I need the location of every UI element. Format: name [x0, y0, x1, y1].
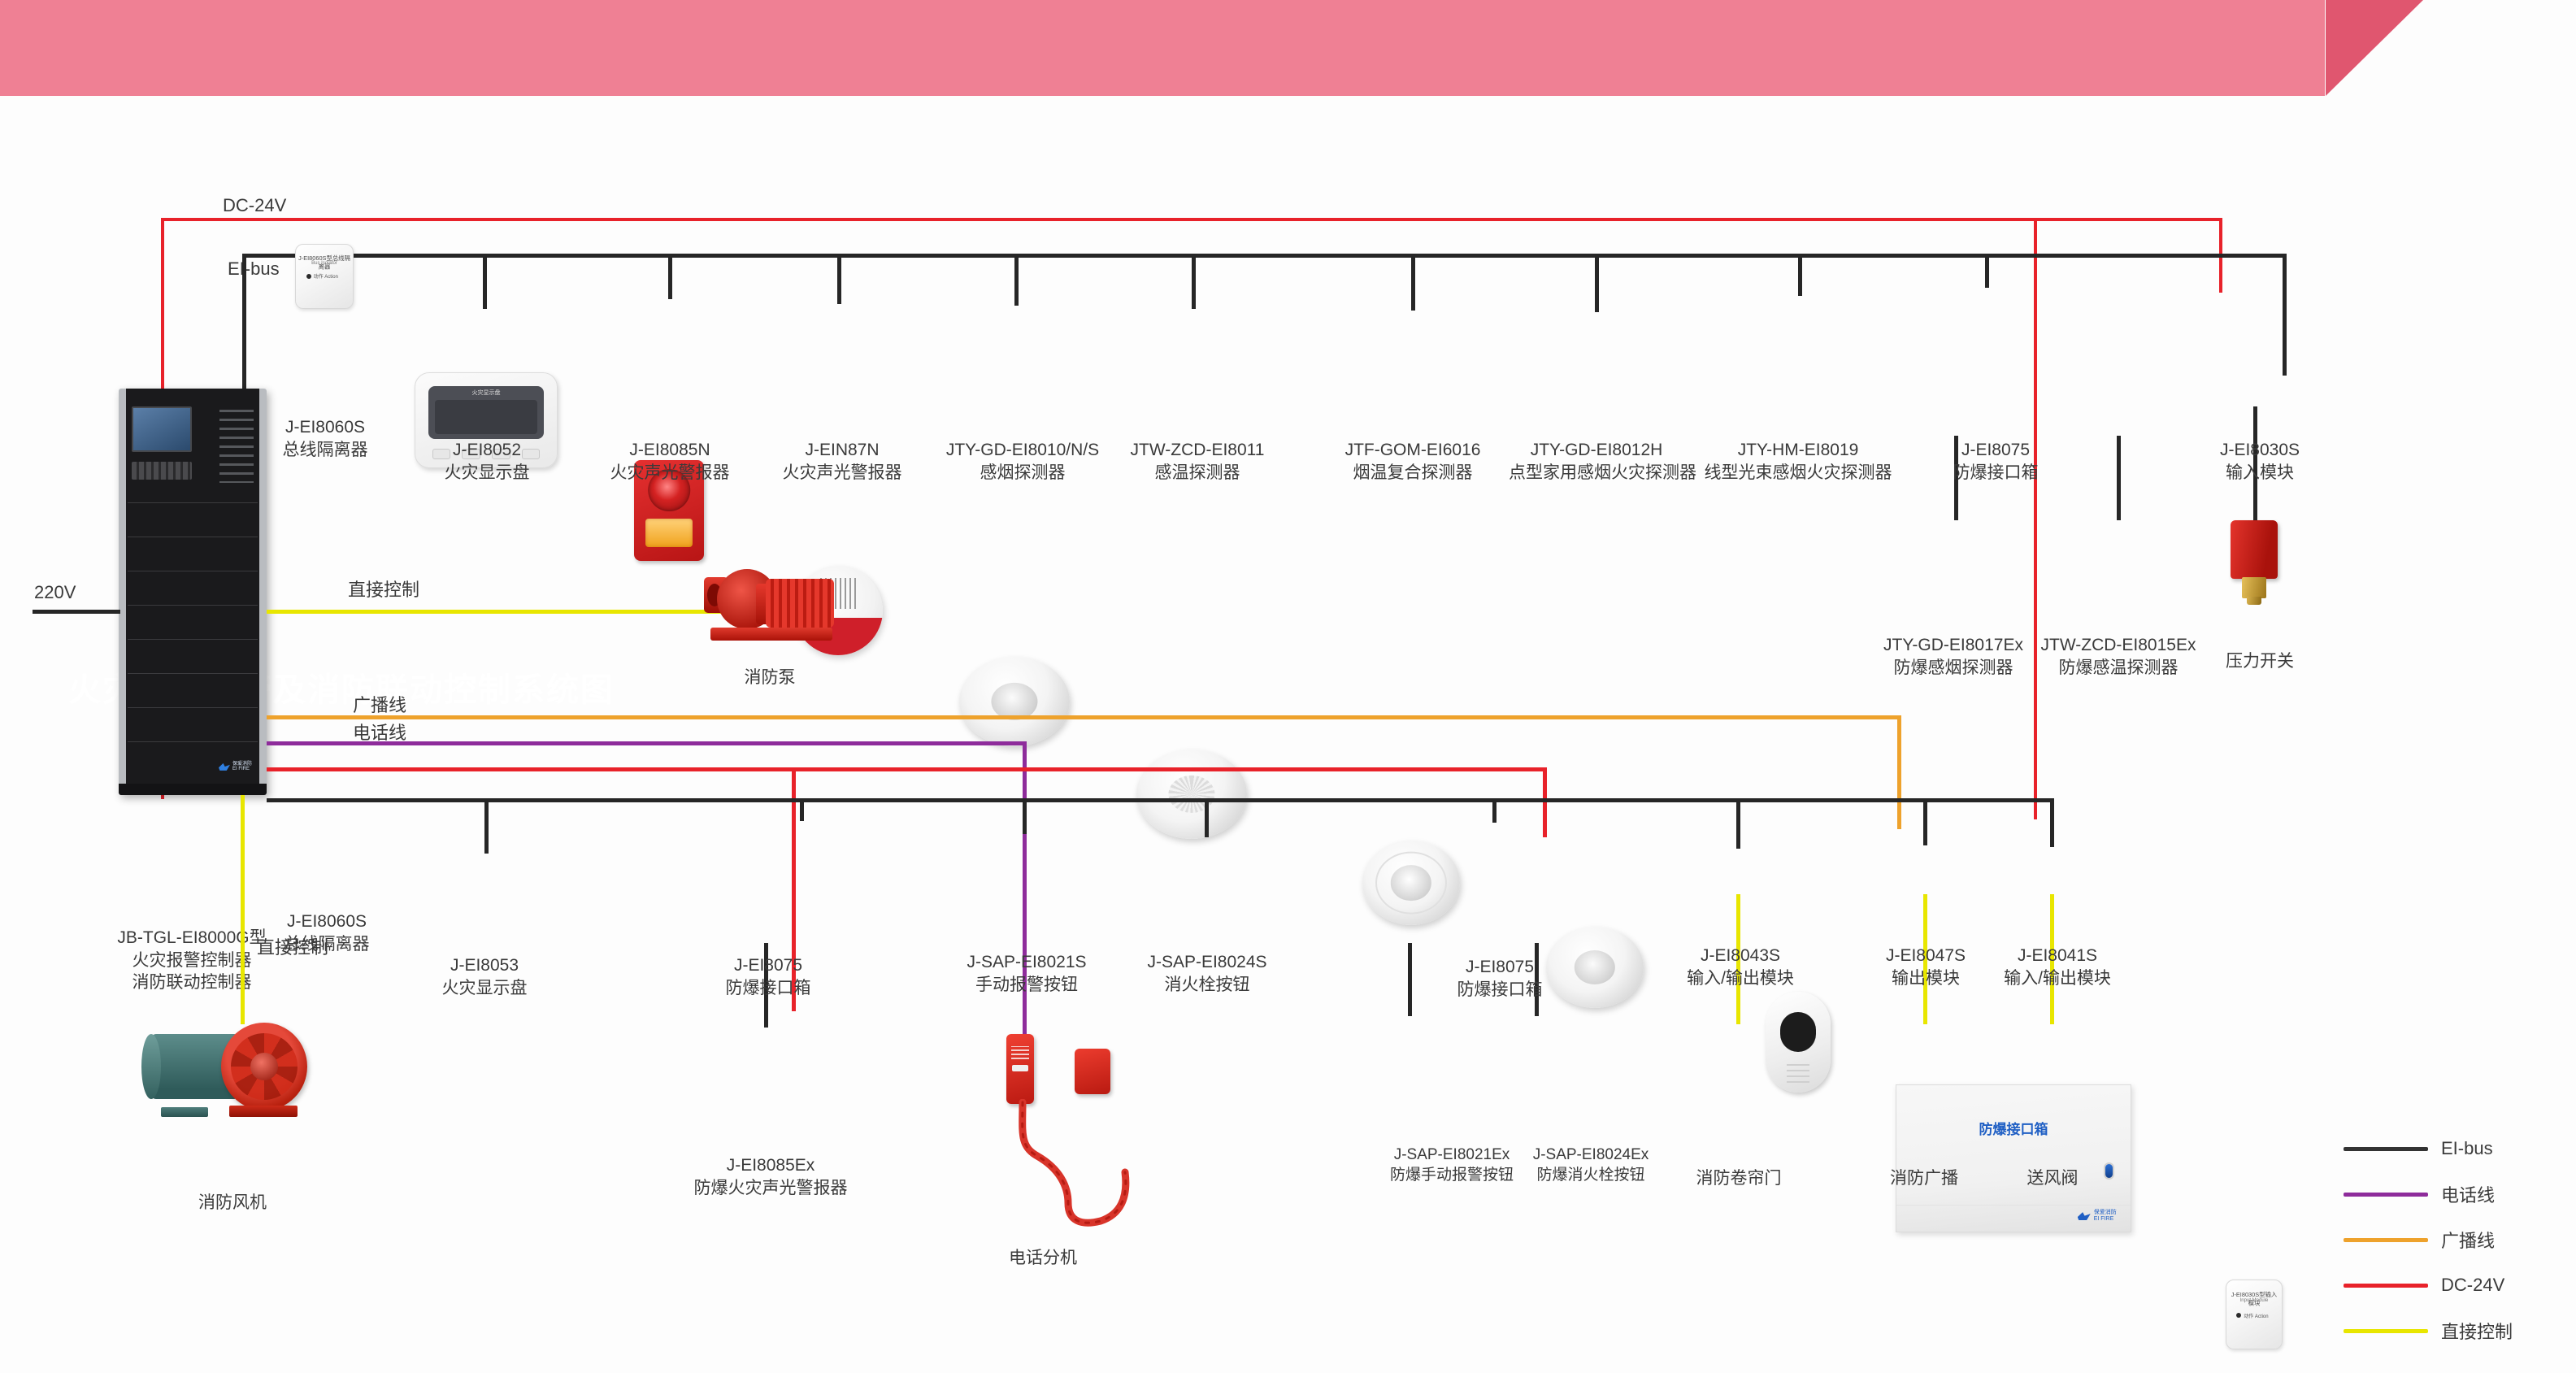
legend-swatch-broadcast — [2344, 1238, 2428, 1242]
pump-base — [710, 628, 832, 641]
header-band — [0, 0, 2325, 96]
cabinet-keypad[interactable] — [132, 462, 192, 480]
pressure-switch-body — [2231, 520, 2278, 579]
label-smoke-fan: 消防风机 — [159, 1192, 306, 1214]
label-8015ex: JTW-ZCD-EI8015Ex防爆感温探测器 — [2029, 634, 2208, 679]
device-fire-pump[interactable] — [704, 546, 836, 641]
handset-earpiece-icon — [1011, 1046, 1029, 1058]
device-beam-detector-8019[interactable] — [1766, 992, 1831, 1093]
fan-rear-foot — [161, 1107, 208, 1117]
label-ein87n: J-EIN87N火灾声光警报器 — [771, 439, 914, 484]
expbox-brand-logo: 保爱消防EI FIRE — [2078, 1210, 2117, 1223]
label-8012h: JTY-GD-EI8012H点型家用感烟火灾探测器 — [1509, 439, 1684, 484]
panel-8052-screen: 火灾显示盘 — [428, 386, 545, 439]
beam-indicator-dots — [1787, 1060, 1810, 1082]
ei-bus-label: EI-bus — [228, 259, 280, 280]
label-fire-broadcast: 消防广播 — [1860, 1167, 1988, 1190]
pump-motor-icon — [766, 579, 834, 628]
ei-bus-leg-8021ex — [1408, 943, 1412, 1016]
ei-bus-right-riser — [2283, 254, 2287, 376]
legend-label-direct-control: 直接控制 — [2441, 1318, 2513, 1344]
fan-ring — [221, 1023, 307, 1110]
ei-bus-drop-8024s — [1205, 798, 1209, 837]
label-8041s: J-EI8041S输入/输出模块 — [1990, 945, 2125, 989]
label-8053: J-EI8053火灾显示盘 — [416, 954, 553, 999]
isolator-action-led: 动作 Action — [306, 272, 338, 280]
ei-bus-drop-ein87n — [837, 254, 841, 304]
label-8010: JTY-GD-EI8010/N/S感烟探测器 — [933, 439, 1112, 484]
cabinet-base — [119, 784, 267, 795]
module-action-led: 动作 Action — [2236, 1312, 2268, 1319]
dc24v-lower-trunk — [267, 767, 1543, 771]
ei-bus-drop-8085n — [668, 254, 672, 299]
telephone-cradle[interactable] — [1075, 1049, 1110, 1094]
ei-bus-drop-expbox-b1 — [800, 798, 804, 821]
sounder-strobe-lens — [645, 519, 693, 547]
label-rolling-shutter-door: 消防卷帘门 — [1675, 1167, 1803, 1190]
brand-mark-icon — [219, 763, 230, 771]
legend-label-ei-bus: EI-bus — [2441, 1138, 2493, 1159]
ei-bus-drop-8052 — [483, 254, 487, 309]
label-8024ex: J-SAP-EI8024Ex防爆消火栓按钮 — [1505, 1145, 1676, 1185]
device-smoke-fan[interactable] — [151, 1019, 314, 1117]
ei-bus-drop-8043s — [1736, 798, 1740, 849]
ei-bus-drop-8012h — [1595, 254, 1599, 312]
legend-item-direct-control: 直接控制 — [2344, 1308, 2547, 1353]
ei-bus-drop-8019 — [1798, 254, 1802, 296]
dc24v-label: DC-24V — [223, 195, 286, 216]
device-home-smoke-detector-8012h[interactable] — [1546, 927, 1644, 1008]
brand-mark-icon — [2078, 1212, 2091, 1220]
legend-swatch-direct-control — [2344, 1329, 2428, 1333]
label-expbox-bottom-2: J-EI8075防爆接口箱 — [1439, 956, 1561, 1001]
label-8052: J-EI8052火灾显示盘 — [418, 439, 556, 484]
ei-bus-drop-expbox-b2 — [1492, 798, 1497, 823]
direct-control-fan-riser — [241, 795, 245, 1024]
device-heat-detector-8011[interactable] — [1136, 750, 1247, 839]
device-compound-detector-6016[interactable] — [1362, 841, 1460, 925]
pressure-switch-brass-fitting — [2242, 577, 2266, 598]
label-air-supply-valve: 送风阀 — [2001, 1167, 2104, 1190]
detector-core-icon — [1391, 865, 1431, 901]
device-smoke-detector-8010[interactable] — [959, 657, 1070, 746]
legend-label-dc24v: DC-24V — [2441, 1275, 2504, 1296]
ei-bus-drop-8047s-bus — [1923, 798, 1927, 845]
direct-control-wire-pump — [267, 610, 722, 614]
expbox-latch-knob[interactable] — [2104, 1162, 2114, 1180]
label-8043s: J-EI8043S输入/输出模块 — [1673, 945, 1808, 989]
ei-bus-trunk-bottom — [267, 798, 2050, 802]
cabinet-brand-logo: 保爱消防EI FIRE — [219, 762, 252, 772]
isolator-face-subtitle: Bus Isolator — [296, 261, 353, 266]
legend-swatch-telephone — [2344, 1193, 2428, 1197]
cabinet-screen — [132, 406, 192, 452]
label-8021s: J-SAP-EI8021S手动报警按钮 — [949, 951, 1104, 996]
device-bus-isolator-top[interactable]: J-EI8060S型总线隔离器 Bus Isolator 动作 Action — [295, 244, 354, 309]
broadcast-line-label: 广播线 — [353, 691, 406, 717]
label-pressure-switch: 压力开关 — [2195, 650, 2325, 673]
label-8024s: J-SAP-EI8024S消火栓按钮 — [1135, 951, 1279, 996]
device-input-module-8030s[interactable]: J-EI8030S型输入模块 Input Module 动作 Action — [2226, 1280, 2283, 1349]
handset-hook-slot — [1012, 1065, 1027, 1072]
dc24v-drop-expbox — [2034, 218, 2037, 819]
label-telephone-extension: 电话分机 — [974, 1247, 1112, 1270]
label-6016: JTF-GOM-EI6016烟温复合探测器 — [1333, 439, 1492, 484]
mains-label: 220V — [34, 582, 76, 603]
label-8011: JTW-ZCD-EI8011感温探测器 — [1120, 439, 1275, 484]
telephone-trunk — [267, 741, 1023, 745]
ei-bus-drop-expbox-top — [1985, 254, 1989, 288]
mains-wire — [33, 610, 120, 614]
legend-item-broadcast: 广播线 — [2344, 1217, 2547, 1262]
ei-bus-drop-8011 — [1192, 254, 1196, 309]
ei-bus-drop-8010 — [1014, 254, 1019, 306]
legend-swatch-dc24v — [2344, 1284, 2428, 1288]
label-8085n: J-EI8085N火灾声光警报器 — [598, 439, 741, 484]
label-fire-pump: 消防泵 — [701, 667, 839, 689]
module-face-subtitle: Input Module — [2226, 1298, 2282, 1303]
ei-bus-drop-6016 — [1411, 254, 1415, 311]
legend-item-telephone: 电话线 — [2344, 1171, 2547, 1217]
system-diagram-page: 火灾自动报警及消防联动控制系统图 DC-24V EI-bus 保爱消防EI FI… — [0, 0, 2576, 1373]
brand-text: 保爱消防EI FIRE — [232, 762, 252, 772]
label-bus-isolator-top: J-EI8060S总线隔离器 — [260, 416, 390, 461]
legend-label-telephone: 电话线 — [2441, 1181, 2495, 1207]
main-fire-alarm-cabinet[interactable]: 保爱消防EI FIRE — [119, 389, 267, 795]
panel-8052-caption: 火灾显示盘 — [428, 389, 545, 397]
ei-bus-leg-8015ex — [2117, 436, 2121, 520]
beam-lens-icon — [1780, 1012, 1817, 1053]
header-corner-accent — [2326, 0, 2423, 96]
fan-blades-icon — [231, 1033, 298, 1100]
device-pressure-switch[interactable] — [2226, 520, 2284, 610]
legend-item-ei-bus: EI-bus — [2344, 1126, 2547, 1171]
direct-control-top-label: 直接控制 — [348, 576, 419, 602]
ei-bus-drop-8041s — [2050, 798, 2054, 847]
handset-coiled-cord — [990, 1099, 1145, 1245]
label-expbox-bottom-1: J-EI8075防爆接口箱 — [707, 954, 829, 999]
label-8030s: J-EI8030S输入模块 — [2195, 439, 2325, 484]
legend-swatch-ei-bus — [2344, 1147, 2428, 1151]
broadcast-drop-8047s — [1897, 715, 1901, 829]
label-8019: JTY-HM-EI8019线型光束感烟火灾探测器 — [1701, 439, 1896, 484]
label-8047s: J-EI8047S输出模块 — [1865, 945, 1987, 989]
label-expbox-top: J-EI8075防爆接口箱 — [1928, 439, 2063, 484]
device-explosion-proof-box-top[interactable]: 防爆接口箱 保爱消防EI FIRE — [1896, 1084, 2131, 1232]
dc24v-trunk — [161, 218, 2221, 221]
handset-body — [1006, 1034, 1034, 1104]
label-8017ex: JTY-GD-EI8017Ex防爆感烟探测器 — [1866, 634, 2040, 679]
legend-label-broadcast: 广播线 — [2441, 1227, 2495, 1253]
cabinet-indicator-bank — [219, 410, 254, 483]
label-bus-isolator-bottom: J-EI8060S总线隔离器 — [262, 910, 392, 955]
label-8085ex: J-EI8085Ex防爆火灾声光警报器 — [689, 1154, 852, 1199]
dc24v-drop-expbox-bottom — [1543, 767, 1547, 837]
fan-front-foot — [229, 1106, 298, 1117]
pressure-switch-thread-icon — [2247, 597, 2261, 605]
ei-bus-drop-8053 — [484, 798, 489, 854]
expbox-title: 防爆接口箱 — [1896, 1118, 2131, 1138]
legend-item-dc24v: DC-24V — [2344, 1262, 2547, 1308]
ei-bus-trunk-top — [242, 254, 2283, 258]
broadcast-trunk — [267, 715, 1897, 719]
legend: EI-bus 电话线 广播线 DC-24V 直接控制 — [2344, 1126, 2547, 1353]
ei-bus-drop-8021s — [1023, 798, 1027, 834]
detector-core-icon — [1575, 950, 1615, 984]
